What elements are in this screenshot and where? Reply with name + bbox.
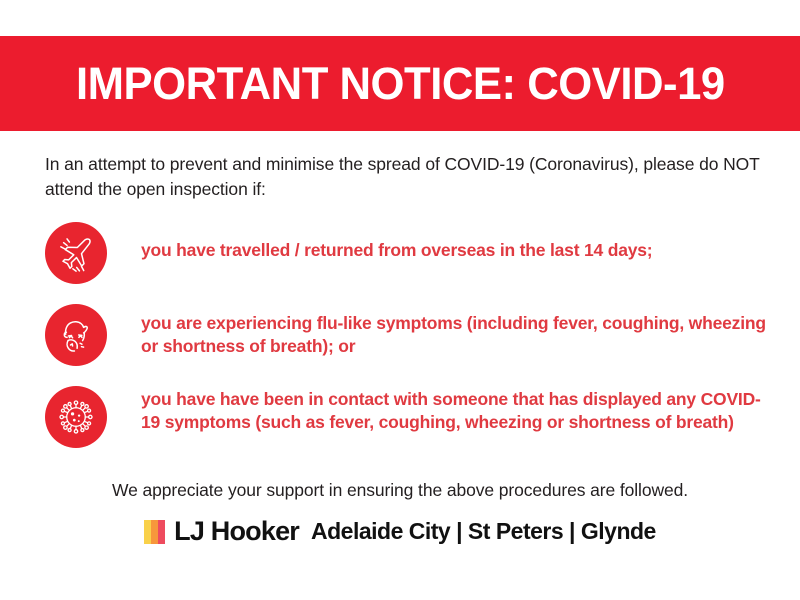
closing-statement: We appreciate your support in ensuring t… (0, 480, 800, 501)
footer-brand-lockup: LJ Hooker Adelaide City | St Peters | Gl… (0, 518, 800, 545)
lj-hooker-logo-icon (144, 520, 165, 544)
logo-bar-orange (151, 520, 158, 544)
exclusion-criteria-list: you have travelled / returned from overs… (45, 222, 770, 456)
intro-paragraph: In an attempt to prevent and minimise th… (45, 152, 765, 202)
list-item: you are experiencing flu-like symptoms (… (45, 304, 770, 374)
logo-bar-red (158, 520, 165, 544)
airplane-icon (45, 222, 107, 284)
branch-names: Adelaide City | St Peters | Glynde (311, 520, 656, 543)
coronavirus-icon (45, 386, 107, 448)
brand-name: LJ Hooker (174, 518, 299, 545)
list-item: you have travelled / returned from overs… (45, 222, 770, 292)
sneezing-face-icon (45, 304, 107, 366)
logo-bar-yellow (144, 520, 151, 544)
page-title: IMPORTANT NOTICE: COVID-19 (76, 61, 725, 106)
list-item: you have have been in contact with someo… (45, 386, 770, 456)
header-banner: IMPORTANT NOTICE: COVID-19 (0, 36, 800, 131)
list-item-label: you have travelled / returned from overs… (141, 222, 652, 262)
list-item-label: you are experiencing flu-like symptoms (… (141, 304, 770, 359)
covid-notice-poster: IMPORTANT NOTICE: COVID-19 In an attempt… (0, 0, 800, 600)
list-item-label: you have have been in contact with someo… (141, 386, 770, 435)
